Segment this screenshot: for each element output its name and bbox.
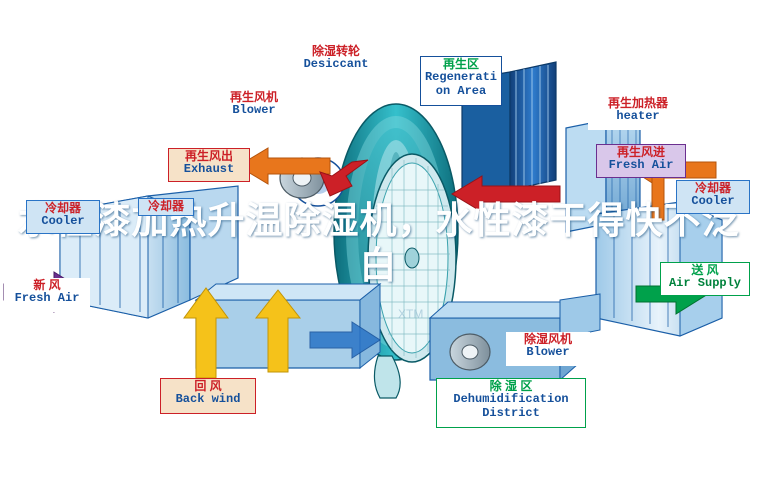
label-dehumidify-blower: 除湿风机Blower [506,332,590,366]
label-dehumidify-blower-cn: 除湿风机 [508,333,588,346]
label-air-supply-cn: 送 风 [663,264,747,277]
label-regeneration-heater-en: heater [590,110,686,123]
label-regeneration-blower: 再生风机Blower [212,90,296,124]
label-exhaust-cn: 再生风出 [171,150,247,163]
label-cooler-left-a-cn: 冷却器 [29,202,97,215]
label-fresh-air-left: 新 风Fresh Air [4,278,90,312]
label-regeneration-area-en: Regenerati on Area [423,71,499,98]
label-fresh-air-left-en: Fresh Air [6,292,88,305]
label-regeneration-blower-cn: 再生风机 [214,91,294,104]
label-dehumidify-district-en: Dehumidification District [439,393,583,420]
label-cooler-left-a-en: Cooler [29,215,97,228]
label-fresh-air-left-cn: 新 风 [6,279,88,292]
label-back-wind-en: Back wind [163,393,253,406]
label-fresh-air-regen: 再生风进Fresh Air [596,144,686,178]
label-regeneration-blower-en: Blower [214,104,294,117]
dehumidification-blower-icon [450,334,490,370]
label-air-supply-en: Air Supply [663,277,747,290]
label-cooler-right: 冷却器Cooler [676,180,750,214]
label-dehumidify-blower-en: Blower [508,346,588,359]
label-exhaust-en: Exhaust [171,163,247,176]
label-exhaust: 再生风出Exhaust [168,148,250,182]
label-cooler-left-b: 冷却器 [138,198,194,216]
label-cooler-right-cn: 冷却器 [679,182,747,195]
diagram-canvas: XTM 水性漆加热升温除湿机，水性漆干得快不泛白 除湿转轮Desiccant再生… [0,0,757,488]
label-cooler-left-b-cn: 冷却器 [141,200,191,213]
svg-text:XTM: XTM [398,307,423,321]
label-regeneration-area: 再生区Regenerati on Area [420,56,502,106]
label-fresh-air-regen-en: Fresh Air [599,159,683,172]
label-back-wind: 回 风Back wind [160,378,256,414]
label-back-wind-cn: 回 风 [163,380,253,393]
label-desiccant-rotor-cn: 除湿转轮 [290,45,382,58]
overlay-title: 水性漆加热升温除湿机，水性漆干得快不泛白 [0,198,757,288]
label-regeneration-heater-cn: 再生加热器 [590,97,686,110]
label-cooler-left-a: 冷却器Cooler [26,200,100,234]
label-cooler-right-en: Cooler [679,195,747,208]
label-dehumidify-district: 除 湿 区Dehumidification District [436,378,586,428]
label-dehumidify-district-cn: 除 湿 区 [439,380,583,393]
label-desiccant-rotor: 除湿转轮Desiccant [288,44,384,78]
label-regeneration-area-cn: 再生区 [423,58,499,71]
label-desiccant-rotor-en: Desiccant [290,58,382,71]
label-air-supply: 送 风Air Supply [660,262,750,296]
label-fresh-air-regen-cn: 再生风进 [599,146,683,159]
label-regeneration-heater: 再生加热器heater [588,96,688,130]
